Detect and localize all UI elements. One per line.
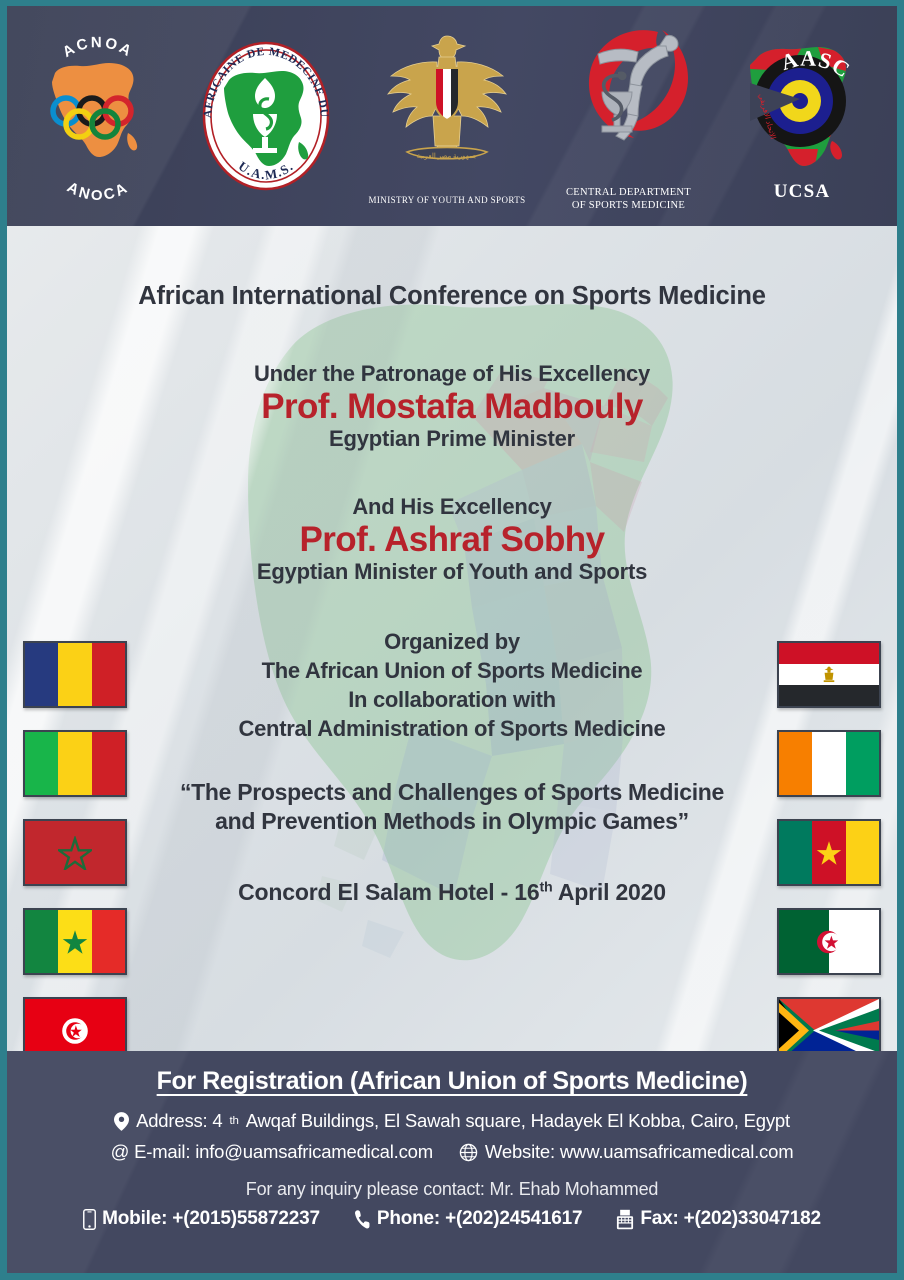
flag-morocco <box>23 819 127 886</box>
venue-ordinal: th <box>539 880 552 896</box>
registration-footer: For Registration (African Union of Sport… <box>7 1051 897 1273</box>
email-item[interactable]: @ E-mail: info@uamsafricamedical.com <box>111 1141 433 1163</box>
phone-row: Mobile: +(2015)55872237 Phone: +(202)245… <box>83 1208 821 1230</box>
svg-text:ANOCA: ANOCA <box>64 179 132 204</box>
fax-label: Fax: +(202)33047182 <box>640 1208 821 1230</box>
svg-text:ACNOA: ACNOA <box>59 34 135 61</box>
second-patron-role: Egyptian Minister of Youth and Sports <box>257 559 647 585</box>
mobile-phone-icon <box>83 1209 96 1230</box>
theme-line-1: “The Prospects and Challenges of Sports … <box>180 778 724 808</box>
fax-machine-icon <box>616 1209 634 1230</box>
organizer-line-1: Organized by <box>239 627 666 656</box>
second-patron-name: Prof. Ashraf Sobhy <box>257 520 647 559</box>
flag-algeria <box>777 908 881 975</box>
central-department-caption: CENTRAL DEPARTMENT OF SPORTS MEDICINE <box>566 187 691 211</box>
inquiry-line: For any inquiry please contact: Mr. Ehab… <box>246 1179 658 1200</box>
venue-place: Concord El Salam Hotel - 16 <box>238 879 539 905</box>
map-pin-icon <box>114 1112 129 1131</box>
conference-poster: ACNOA ANOCA <box>0 0 904 1280</box>
address-row: Address: 4th Awqaf Buildings, El Sawah s… <box>114 1110 790 1132</box>
phone-label: Phone: +(202)24541617 <box>377 1208 582 1230</box>
flag-chad <box>23 641 127 708</box>
svg-text:UCSA: UCSA <box>773 181 830 202</box>
flag-senegal <box>23 908 127 975</box>
venue-date: April 2020 <box>553 879 666 905</box>
central-department-caption-line2: OF SPORTS MEDICINE <box>566 200 691 212</box>
organizer-block: Organized by The African Union of Sports… <box>239 627 666 743</box>
address-label: Address: 4 <box>136 1110 222 1132</box>
patron-name: Prof. Mostafa Madbouly <box>254 387 650 426</box>
flag-south-africa <box>777 997 881 1051</box>
patron-label: Under the Patronage of His Excellency <box>254 361 650 387</box>
flag-cameroon <box>777 819 881 886</box>
ministry-of-youth-and-sports-logo: جمهورية مصر العربية MINISTRY OF YOUTH AN… <box>369 28 526 205</box>
organizer-line-4: Central Administration of Sports Medicin… <box>239 714 666 743</box>
globe-icon <box>459 1143 478 1162</box>
address-rest: Awqaf Buildings, El Sawah square, Hadaye… <box>246 1110 790 1132</box>
email-label: @ E-mail: info@uamsafricamedical.com <box>111 1141 433 1163</box>
website-label: Website: www.uamsafricamedical.com <box>485 1141 794 1163</box>
second-patron-block: And His Excellency Prof. Ashraf Sobhy Eg… <box>257 494 647 585</box>
organizer-line-2: The African Union of Sports Medicine <box>239 656 666 685</box>
svg-text:جمهورية مصر العربية: جمهورية مصر العربية <box>417 152 478 160</box>
contact-row: @ E-mail: info@uamsafricamedical.com Web… <box>111 1141 794 1163</box>
flag-tunisia <box>23 997 127 1051</box>
mobile-label: Mobile: +(2015)55872237 <box>102 1208 320 1230</box>
organizer-line-3: In collaboration with <box>239 685 666 714</box>
central-department-of-sports-medicine-logo: CENTRAL DEPARTMENT OF SPORTS MEDICINE <box>554 20 704 211</box>
logo-header-bar: ACNOA ANOCA <box>7 6 897 226</box>
venue-and-date: Concord El Salam Hotel - 16th April 2020 <box>238 879 666 906</box>
flag-egypt <box>777 641 881 708</box>
patron-block: Under the Patronage of His Excellency Pr… <box>254 361 650 452</box>
telephone-handset-icon <box>354 1209 371 1230</box>
anoca-logo: ACNOA ANOCA <box>33 21 163 211</box>
ministry-caption: MINISTRY OF YOUTH AND SPORTS <box>369 195 526 205</box>
fax-item[interactable]: Fax: +(202)33047182 <box>616 1208 821 1230</box>
patron-role: Egyptian Prime Minister <box>254 426 650 452</box>
logo-row: ACNOA ANOCA <box>7 6 897 226</box>
phone-item[interactable]: Phone: +(202)24541617 <box>354 1208 582 1230</box>
website-item[interactable]: Website: www.uamsafricamedical.com <box>459 1141 794 1163</box>
second-patron-label: And His Excellency <box>257 494 647 520</box>
page-title: African International Conference on Spor… <box>138 282 765 311</box>
flag-column-left <box>23 641 127 1051</box>
flag-mali <box>23 730 127 797</box>
theme-line-2: and Prevention Methods in Olympic Games” <box>180 807 724 837</box>
flag-cote-divoire <box>777 730 881 797</box>
poster-content: African International Conference on Spor… <box>7 226 897 1051</box>
aasc-ucsa-logo: AASC UCSA الاتحاد الافريقي <box>732 21 872 211</box>
uams-logo: UNION AFRICAINE DE MEDECINE DU SPORT U.A… <box>191 36 341 196</box>
flag-column-right <box>777 641 881 1051</box>
poster-body: African International Conference on Spor… <box>7 226 897 1051</box>
central-department-caption-line1: CENTRAL DEPARTMENT <box>566 187 691 199</box>
address-ordinal: th <box>230 1115 239 1127</box>
mobile-item[interactable]: Mobile: +(2015)55872237 <box>83 1208 320 1230</box>
registration-title: For Registration (African Union of Sport… <box>157 1067 748 1096</box>
conference-theme: “The Prospects and Challenges of Sports … <box>180 778 724 838</box>
